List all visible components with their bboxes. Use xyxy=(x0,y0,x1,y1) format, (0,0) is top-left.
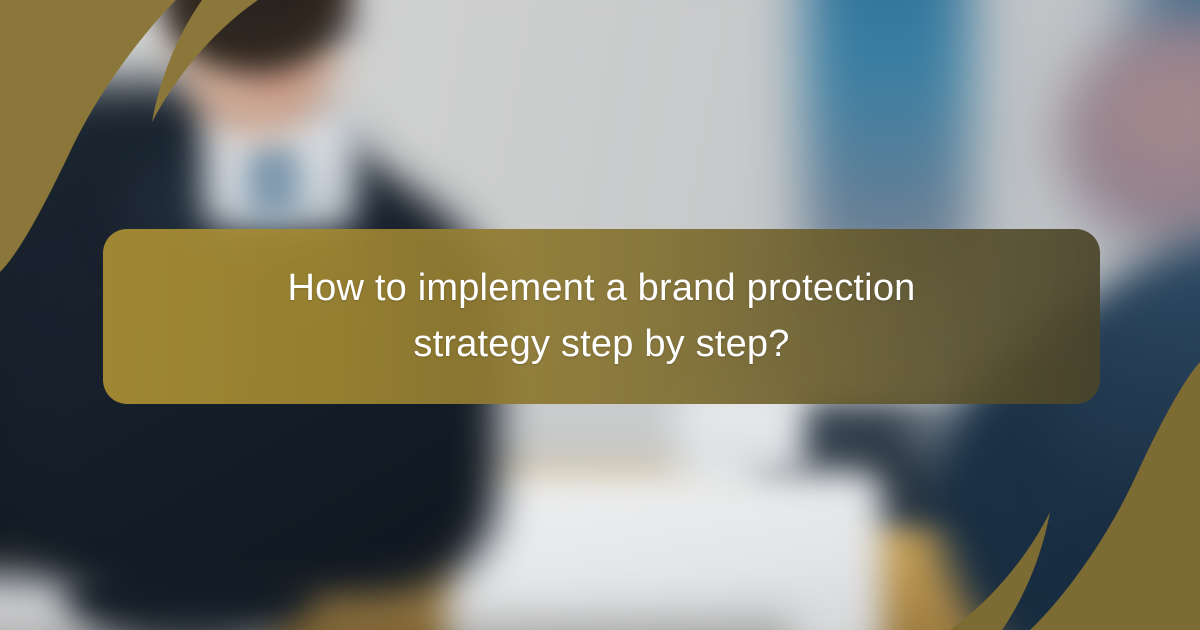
photo-layer-tie xyxy=(248,145,299,216)
photo-layer-under-desk xyxy=(0,599,792,630)
title-card: How to implement a brand protection stra… xyxy=(103,229,1100,404)
page-title: How to implement a brand protection stra… xyxy=(252,261,952,372)
og-card-canvas: How to implement a brand protection stra… xyxy=(0,0,1200,630)
